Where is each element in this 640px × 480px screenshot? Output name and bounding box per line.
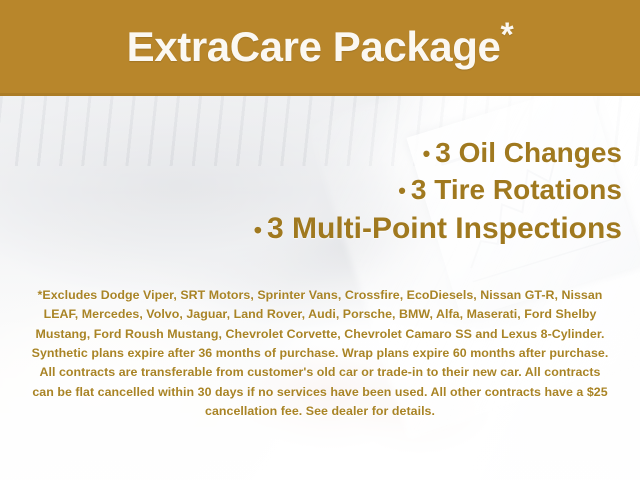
benefit-label: 3 Multi-Point Inspections	[267, 212, 622, 245]
bullet-dot-icon: •	[254, 217, 267, 243]
list-item: •3 Tire Rotations	[0, 172, 622, 209]
benefit-label: 3 Tire Rotations	[411, 174, 622, 205]
extracare-package-promo-banner: ExtraCare Package* •3 Oil Changes •3 Tir…	[0, 0, 640, 480]
benefits-list: •3 Oil Changes •3 Tire Rotations •3 Mult…	[0, 135, 640, 249]
page-title: ExtraCare Package*	[127, 26, 514, 68]
header-bar: ExtraCare Package*	[0, 0, 640, 96]
bullet-dot-icon: •	[423, 141, 436, 166]
list-item: •3 Multi-Point Inspections	[0, 209, 622, 249]
page-title-text: ExtraCare Package	[127, 23, 501, 70]
bullet-dot-icon: •	[398, 178, 411, 203]
list-item: •3 Oil Changes	[0, 135, 622, 172]
benefit-label: 3 Oil Changes	[435, 137, 622, 168]
page-title-asterisk: *	[500, 16, 513, 54]
disclaimer-text: *Excludes Dodge Viper, SRT Motors, Sprin…	[28, 286, 612, 421]
